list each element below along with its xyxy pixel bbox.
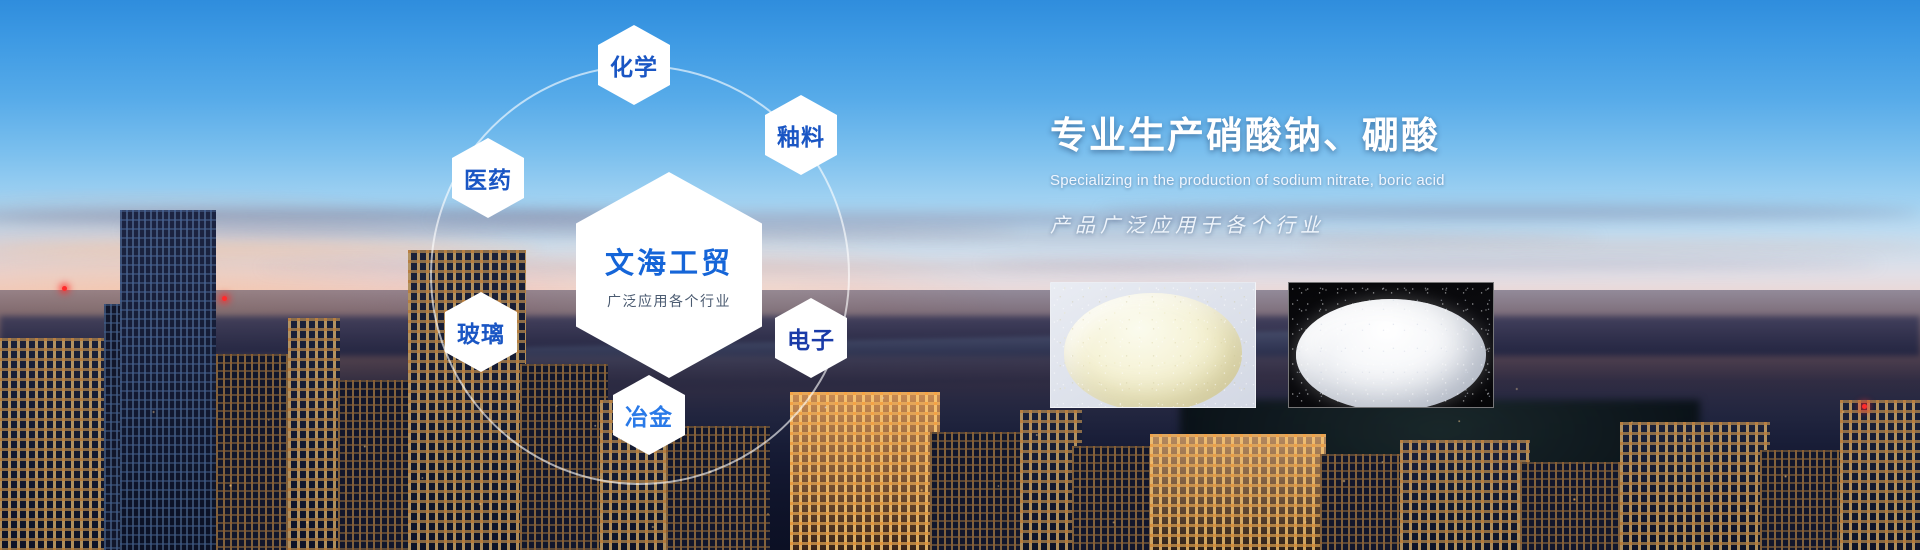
marketing-copy: 专业生产硝酸钠、硼酸 Specializing in the productio…: [1050, 105, 1700, 238]
powder-texture: [1289, 283, 1493, 407]
hex-label-chemical: 化学: [610, 48, 658, 82]
hex-label-metallurgy: 冶金: [625, 398, 673, 432]
headline: 专业生产硝酸钠、硼酸: [1050, 105, 1700, 159]
powder-texture: [1051, 283, 1255, 407]
cloud-streak: [1300, 240, 1920, 252]
industry-hex-diagram: 文海工贸 广泛应用各个行业 化学 釉料 电子 冶金 玻璃 医药: [430, 30, 910, 520]
hex-label-glass: 玻璃: [457, 315, 505, 349]
hex-label-electronic: 电子: [787, 321, 835, 355]
product-photo-group: [1050, 282, 1494, 408]
promo-banner: 文海工贸 广泛应用各个行业 化学 釉料 电子 冶金 玻璃 医药 专业生产硝酸钠、…: [0, 0, 1920, 550]
hex-label-medicine: 医药: [464, 161, 512, 195]
company-name: 文海工贸: [605, 240, 733, 282]
city-lights-distant: [0, 350, 1920, 550]
antenna-warning-light: [222, 296, 227, 301]
hex-label-glaze: 釉料: [777, 118, 825, 152]
cloud-streak: [980, 258, 1880, 270]
tagline: 产品广泛应用于各个行业: [1050, 209, 1700, 238]
product-photo-boric-acid[interactable]: [1288, 282, 1494, 408]
company-tagline: 广泛应用各个行业: [607, 291, 731, 311]
antenna-warning-light: [1862, 404, 1867, 409]
antenna-warning-light: [62, 286, 67, 291]
product-photo-sodium-nitrate[interactable]: [1050, 282, 1256, 408]
headline-english: Specializing in the production of sodium…: [1050, 172, 1700, 189]
